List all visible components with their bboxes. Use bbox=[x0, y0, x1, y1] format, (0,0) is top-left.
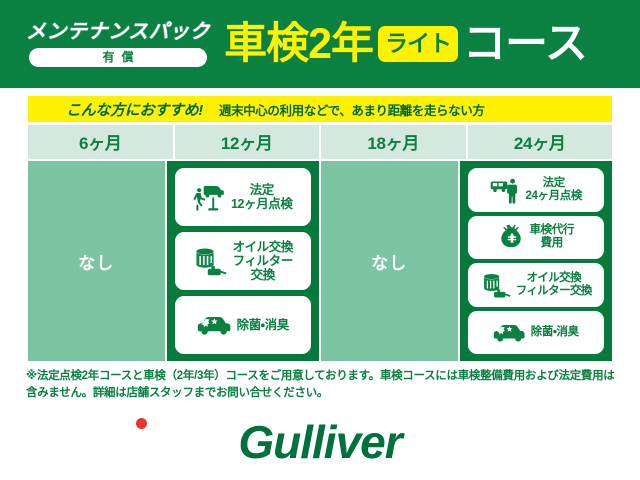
service-card-legal-24: 法定 24ヶ月点検 bbox=[468, 168, 605, 212]
recommend-strip: こんな方におすすめ! 週末中心の利用などで、あまり距離を走らない方 bbox=[28, 96, 612, 122]
headline-course: コース bbox=[463, 23, 587, 66]
brand-logo-text: Gulliver bbox=[238, 419, 401, 465]
column-header-6: 6ヶ月 bbox=[28, 125, 173, 159]
table-body-row: なし bbox=[28, 161, 612, 361]
oil-filter-can-icon bbox=[480, 271, 512, 299]
paid-badge: 有償 bbox=[29, 48, 207, 67]
service-card-oil-12: オイル交換 フィルター 交換 bbox=[175, 232, 312, 290]
none-label-6: なし bbox=[78, 249, 114, 274]
service-card-sanitize-24: 除菌・消臭 bbox=[468, 311, 605, 355]
recommend-strip-wrap: こんな方におすすめ! 週末中心の利用などで、あまり距離を走らない方 bbox=[0, 88, 640, 122]
headline-shaken-2year: 車検2年 bbox=[224, 23, 373, 66]
service-card-sanitize-12: 除菌・消臭 bbox=[175, 296, 312, 354]
service-card-agency-fee-24: 車検代行 費用 bbox=[468, 216, 605, 260]
money-bag-yen-icon bbox=[498, 223, 526, 251]
recommend-heading: こんな方におすすめ! bbox=[66, 99, 203, 120]
brand-logo-dot-icon bbox=[136, 418, 147, 429]
brand-logo: Gulliver bbox=[0, 419, 640, 465]
headline-block: 車検2年 ライト コース bbox=[224, 23, 626, 66]
service-card-label: 車検代行 費用 bbox=[530, 224, 574, 250]
service-card-label: オイル交換 フィルター交換 bbox=[516, 272, 592, 298]
service-card-legal-12: 法定 12ヶ月点検 bbox=[175, 168, 312, 226]
car-lift-inspection-icon bbox=[193, 182, 227, 212]
car-sparkle-icon bbox=[197, 314, 233, 336]
headline-light-badge: ライト bbox=[378, 26, 458, 62]
column-body-18: なし bbox=[321, 161, 458, 361]
service-card-oil-24: オイル交換 フィルター交換 bbox=[468, 263, 605, 307]
none-label-18: なし bbox=[371, 249, 407, 274]
service-card-label: 法定 24ヶ月点検 bbox=[526, 177, 582, 203]
column-header-12: 12ヶ月 bbox=[175, 125, 320, 159]
footnote-text: ※法定点検2年コースと車検（2年/3年）コースをご用意しております。車検コースに… bbox=[0, 361, 640, 401]
car-inspector-icon bbox=[490, 176, 522, 204]
maintenance-pack-block: メンテナンスパック 有償 bbox=[26, 22, 210, 67]
column-body-6: なし bbox=[28, 161, 165, 361]
column-header-18: 18ヶ月 bbox=[321, 125, 466, 159]
car-sparkle-icon bbox=[493, 322, 527, 343]
column-header-24: 24ヶ月 bbox=[468, 125, 613, 159]
column-body-12: 法定 12ヶ月点検 bbox=[167, 161, 320, 361]
maintenance-table: 6ヶ月 12ヶ月 18ヶ月 24ヶ月 なし bbox=[0, 125, 640, 361]
service-card-label: 除菌・消臭 bbox=[531, 326, 579, 339]
service-card-label: 法定 12ヶ月点検 bbox=[231, 183, 293, 211]
header-banner: メンテナンスパック 有償 車検2年 ライト コース bbox=[0, 0, 640, 88]
table-header-row: 6ヶ月 12ヶ月 18ヶ月 24ヶ月 bbox=[28, 125, 612, 159]
recommend-note: 週末中心の利用などで、あまり距離を走らない方 bbox=[219, 100, 484, 119]
service-card-label: オイル交換 フィルター 交換 bbox=[232, 240, 293, 282]
column-body-24: 法定 24ヶ月点検 車検代行 費用 bbox=[460, 161, 613, 361]
service-card-label: 除菌・消臭 bbox=[237, 318, 289, 332]
maintenance-pack-title: メンテナンスパック bbox=[26, 22, 210, 43]
oil-filter-can-icon bbox=[192, 245, 228, 277]
